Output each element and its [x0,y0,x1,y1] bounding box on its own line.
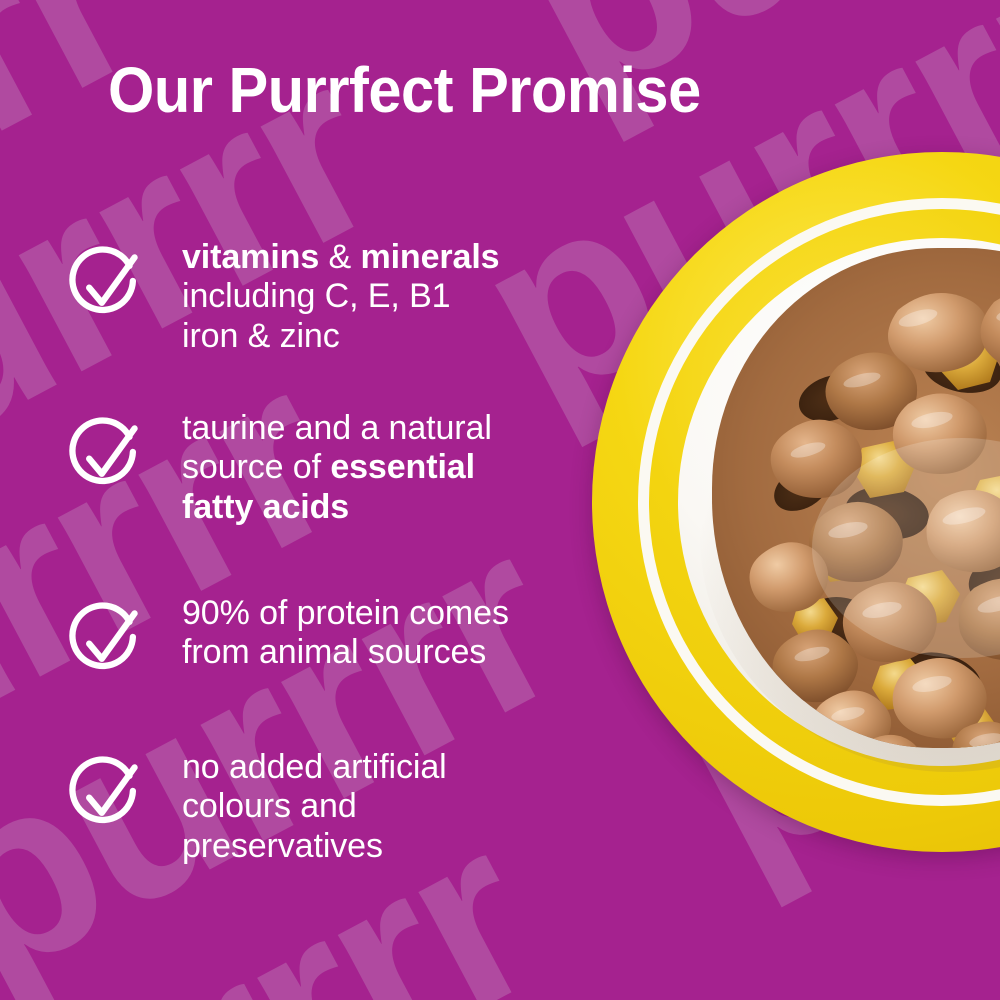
promo-panel: purrrr Our Purrfe [0,0,1000,1000]
text-run: & [319,238,360,276]
cat-food-heap [712,248,1000,748]
text-run: taurine and a natural [182,409,492,447]
list-item-text: no added artificialcolours andpreservati… [182,748,624,866]
text-run: iron & zinc [182,317,340,355]
text-run: 90% of protein comes [182,594,509,632]
page-title: Our Purrfect Promise [108,58,852,122]
list-item: 90% of protein comesfrom animal sources [64,594,624,684]
plate-of-cat-food [592,152,1000,852]
list-item-line: 90% of protein comes [182,594,624,633]
text-run-bold: vitamins [182,238,319,276]
check-circle-icon [64,415,148,499]
text-run-bold: essential [330,448,475,486]
list-item-line: preservatives [182,827,624,866]
list-item-line: source of essential [182,448,624,487]
list-item-line: from animal sources [182,633,624,672]
text-run-bold: fatty acids [182,488,349,526]
text-run: including C, E, B1 [182,277,450,315]
check-circle-icon [64,600,148,684]
list-item-text: vitamins & mineralsincluding C, E, B1iro… [182,238,624,356]
list-item-line: fatty acids [182,488,624,527]
list-item-line: colours and [182,787,624,826]
text-run: source of [182,448,330,486]
text-run: from animal sources [182,633,486,671]
list-item-line: no added artificial [182,748,624,787]
list-item: vitamins & mineralsincluding C, E, B1iro… [64,238,624,356]
list-item-line: including C, E, B1 [182,277,624,316]
list-item: taurine and a naturalsource of essential… [64,409,624,527]
text-run: preservatives [182,827,383,865]
list-item-line: vitamins & minerals [182,238,624,277]
text-run: no added artificial [182,748,447,786]
list-item-text: 90% of protein comesfrom animal sources [182,594,624,673]
text-run: colours and [182,787,357,825]
text-run-bold: minerals [360,238,499,276]
check-circle-icon [64,754,148,838]
list-item-line: taurine and a natural [182,409,624,448]
list-item: no added artificialcolours andpreservati… [64,748,624,866]
list-item-text: taurine and a naturalsource of essential… [182,409,624,527]
check-circle-icon [64,244,148,328]
list-item-line: iron & zinc [182,317,624,356]
